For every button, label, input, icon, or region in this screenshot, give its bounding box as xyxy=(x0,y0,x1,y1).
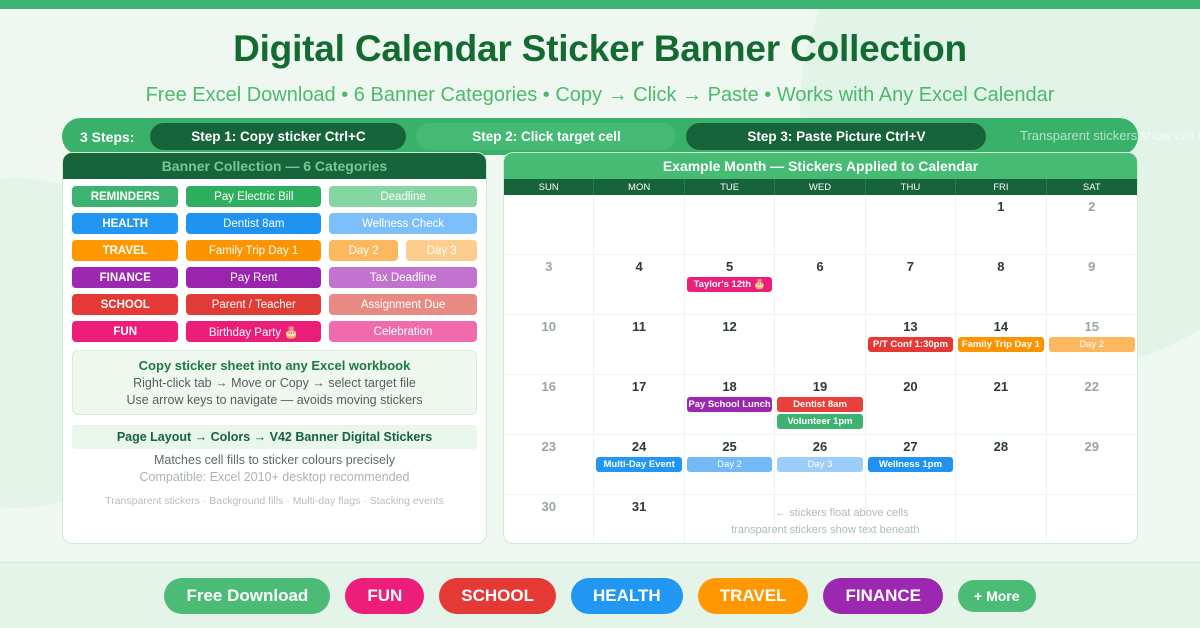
calendar-day-number: 3 xyxy=(504,259,593,274)
calendar-day-cell[interactable]: 30 xyxy=(504,495,594,544)
banner-row: REMINDERSPay Electric BillDeadline xyxy=(72,186,477,207)
calendar-day-number: 4 xyxy=(594,259,683,274)
calendar-day-cell[interactable]: 4 xyxy=(594,255,684,315)
calendar-sticker[interactable]: Dentist 8am xyxy=(777,397,862,412)
calendar-day-cell[interactable]: 23 xyxy=(504,435,594,495)
calendar-day-cell[interactable]: 9 xyxy=(1047,255,1137,315)
banner-collection-panel: Banner Collection — 6 Categories REMINDE… xyxy=(62,152,487,544)
banner-pale-chip[interactable]: Assignment Due xyxy=(329,294,477,315)
calendar-day-number: 26 xyxy=(775,439,864,454)
calendar-day-cell[interactable]: 19Dentist 8amVolunteer 1pm xyxy=(775,375,865,435)
calendar-sticker[interactable]: Volunteer 1pm xyxy=(777,414,862,429)
banner-pale-chip[interactable]: Celebration xyxy=(329,321,477,342)
theme-sub-line: Matches cell fills to sticker colours pr… xyxy=(63,453,486,467)
calendar-day-cell[interactable]: 15Day 2 xyxy=(1047,315,1137,375)
calendar-sticker[interactable]: Day 2 xyxy=(687,457,772,472)
theme-ribbon: Page Layout → Colors → V42 Banner Digita… xyxy=(72,425,477,449)
step-1-pill[interactable]: Step 1: Copy sticker Ctrl+C xyxy=(150,123,406,150)
calendar-event-stack: Day 3 xyxy=(777,457,862,472)
calendar-day-cell[interactable]: 12 xyxy=(685,315,775,375)
banner-row: SCHOOLParent / TeacherAssignment Due xyxy=(72,294,477,315)
calendar-day-number: 5 xyxy=(685,259,774,274)
banner-row: HEALTHDentist 8amWellness Check xyxy=(72,213,477,234)
calendar-day-cell[interactable]: 21 xyxy=(956,375,1046,435)
calendar-sticker[interactable]: Family Trip Day 1 xyxy=(958,337,1043,352)
calendar-week-row: 161718Pay School Lunch19Dentist 8amVolun… xyxy=(504,375,1137,435)
footer-button-health[interactable]: HEALTH xyxy=(571,578,683,614)
calendar-event-stack: P/T Conf 1:30pm xyxy=(868,337,953,352)
panels-container: Banner Collection — 6 Categories REMINDE… xyxy=(62,152,1138,544)
calendar-day-number: 30 xyxy=(504,499,593,514)
calendar-day-number: 15 xyxy=(1047,319,1137,334)
example-calendar-panel: Example Month — Stickers Applied to Cale… xyxy=(503,152,1138,544)
banner-example-chip[interactable]: Parent / Teacher xyxy=(186,294,321,315)
calendar-day-cell[interactable]: 6 xyxy=(775,255,865,315)
calendar-day-number: 13 xyxy=(866,319,955,334)
banner-example-chip[interactable]: Birthday Party 🎂 xyxy=(186,321,321,342)
calendar-event-stack: Family Trip Day 1 xyxy=(958,337,1043,352)
banner-example-chip[interactable]: Pay Rent xyxy=(186,267,321,288)
calendar-event-stack: Dentist 8amVolunteer 1pm xyxy=(777,397,862,429)
calendar-day-cell[interactable]: 22 xyxy=(1047,375,1137,435)
page-root: Digital Calendar Sticker Banner Collecti… xyxy=(0,0,1200,628)
calendar-dow-wed: WED xyxy=(775,179,865,195)
banner-category-chip[interactable]: TRAVEL xyxy=(72,240,178,261)
calendar-day-cell[interactable]: 1 xyxy=(956,195,1046,255)
calendar-day-number: 7 xyxy=(866,259,955,274)
calendar-body: 12345Taylor's 12th 🎂678910111213P/T Conf… xyxy=(504,195,1137,544)
calendar-dow-tue: TUE xyxy=(685,179,775,195)
calendar-day-cell[interactable]: 16 xyxy=(504,375,594,435)
calendar-day-cell[interactable] xyxy=(1047,495,1137,544)
footer-button-travel[interactable]: TRAVEL xyxy=(698,578,809,614)
calendar-day-cell[interactable] xyxy=(504,195,594,255)
calendar-event-stack: Taylor's 12th 🎂 xyxy=(687,277,772,292)
calendar-sticker[interactable]: Day 3 xyxy=(777,457,862,472)
calendar-day-cell[interactable] xyxy=(775,195,865,255)
steps-label: 3 Steps: xyxy=(80,129,134,145)
calendar-week-row: 3031← stickers float above cellstranspar… xyxy=(504,495,1137,544)
calendar-event-stack: Multi-Day Event xyxy=(596,457,681,472)
banner-category-chip[interactable]: FUN xyxy=(72,321,178,342)
calendar-day-cell[interactable]: 31 xyxy=(594,495,684,544)
calendar-day-cell[interactable] xyxy=(866,495,956,544)
banner-pale-chip[interactable]: Tax Deadline xyxy=(329,267,477,288)
calendar-day-number: 19 xyxy=(775,379,864,394)
steps-bar: 3 Steps: Step 1: Copy sticker Ctrl+C Ste… xyxy=(62,118,1138,155)
calendar-day-cell[interactable]: 26Day 3 xyxy=(775,435,865,495)
banner-category-chip[interactable]: REMINDERS xyxy=(72,186,178,207)
page-title: Digital Calendar Sticker Banner Collecti… xyxy=(0,28,1200,70)
step-3-pill[interactable]: Step 3: Paste Picture Ctrl+V xyxy=(686,123,986,150)
calendar-day-cell[interactable]: 17 xyxy=(594,375,684,435)
calendar-event-stack: Pay School Lunch xyxy=(687,397,772,412)
footer-button-school[interactable]: SCHOOL xyxy=(439,578,556,614)
calendar-event-stack: Wellness 1pm xyxy=(868,457,953,472)
calendar-sticker[interactable]: Multi-Day Event xyxy=(596,457,681,472)
calendar-day-cell[interactable]: 5Taylor's 12th 🎂 xyxy=(685,255,775,315)
banner-pale-chip-2[interactable]: Day 3 xyxy=(406,240,477,261)
calendar-day-number: 17 xyxy=(594,379,683,394)
copy-sheet-note-title: Copy sticker sheet into any Excel workbo… xyxy=(81,358,468,373)
footer-button-bar: Free DownloadFUNSCHOOLHEALTHTRAVELFINANC… xyxy=(0,562,1200,628)
footer-button-more[interactable]: + More xyxy=(958,580,1036,612)
calendar-day-cell[interactable]: 27Wellness 1pm xyxy=(866,435,956,495)
features-line: Transparent stickers · Background fills … xyxy=(63,495,486,507)
calendar-day-number: 23 xyxy=(504,439,593,454)
calendar-sticker[interactable]: Pay School Lunch xyxy=(687,397,772,412)
calendar-day-number: 18 xyxy=(685,379,774,394)
calendar-day-number: 20 xyxy=(866,379,955,394)
calendar-day-number: 12 xyxy=(685,319,774,334)
calendar-day-number: 28 xyxy=(956,439,1045,454)
calendar-event-stack: Day 2 xyxy=(687,457,772,472)
page-header: Digital Calendar Sticker Banner Collecti… xyxy=(0,0,1200,107)
banner-row: TRAVELFamily Trip Day 1Day 2Day 3 xyxy=(72,240,477,261)
footer-button-fun[interactable]: FUN xyxy=(345,578,424,614)
calendar-day-cell[interactable]: 13P/T Conf 1:30pm xyxy=(866,315,956,375)
banner-row: FUNBirthday Party 🎂Celebration xyxy=(72,321,477,342)
calendar-day-number: 29 xyxy=(1047,439,1137,454)
banner-category-chip[interactable]: HEALTH xyxy=(72,213,178,234)
calendar-dow-sun: SUN xyxy=(504,179,594,195)
calendar-week-row: 345Taylor's 12th 🎂6789 xyxy=(504,255,1137,315)
calendar-sticker[interactable]: P/T Conf 1:30pm xyxy=(868,337,953,352)
calendar-dow-fri: FRI xyxy=(956,179,1046,195)
calendar-day-number: 14 xyxy=(956,319,1045,334)
calendar-day-number: 21 xyxy=(956,379,1045,394)
banner-example-chip[interactable]: Family Trip Day 1 xyxy=(186,240,321,261)
banner-example-chip[interactable]: Pay Electric Bill xyxy=(186,186,321,207)
calendar-day-cell[interactable] xyxy=(685,495,775,544)
calendar-day-cell[interactable] xyxy=(866,195,956,255)
calendar-sticker[interactable]: Wellness 1pm xyxy=(868,457,953,472)
calendar-day-number: 8 xyxy=(956,259,1045,274)
calendar-day-number: 1 xyxy=(956,199,1045,214)
banner-category-chip[interactable]: SCHOOL xyxy=(72,294,178,315)
step-2-pill[interactable]: Step 2: Click target cell xyxy=(416,123,676,150)
calendar-day-cell[interactable] xyxy=(956,495,1046,544)
calendar-day-number: 31 xyxy=(594,499,683,514)
calendar-day-cell[interactable]: ← stickers float above cellstransparent … xyxy=(775,495,865,544)
copy-sheet-note-box: Copy sticker sheet into any Excel workbo… xyxy=(72,350,477,415)
footer-button-finance[interactable]: FINANCE xyxy=(823,578,943,614)
calendar-day-cell[interactable]: 20 xyxy=(866,375,956,435)
calendar-day-headers: SUNMONTUEWEDTHUFRISAT xyxy=(504,179,1137,195)
compatibility-line: Compatible: Excel 2010+ desktop recommen… xyxy=(63,470,486,484)
banner-rows: REMINDERSPay Electric BillDeadlineHEALTH… xyxy=(63,179,486,342)
copy-sheet-note-line-1: Right-click tab → Move or Copy → select … xyxy=(81,376,468,390)
banner-pale-chip[interactable]: Deadline xyxy=(329,186,477,207)
calendar-week-row: 12 xyxy=(504,195,1137,255)
calendar-day-number: 10 xyxy=(504,319,593,334)
calendar-day-number: 16 xyxy=(504,379,593,394)
calendar-day-cell[interactable]: 24Multi-Day Event xyxy=(594,435,684,495)
calendar-day-cell[interactable]: 7 xyxy=(866,255,956,315)
calendar-day-cell[interactable]: 8 xyxy=(956,255,1046,315)
calendar-day-number: 25 xyxy=(685,439,774,454)
footer-button-free-download[interactable]: Free Download xyxy=(164,578,330,614)
example-calendar-heading: Example Month — Stickers Applied to Cale… xyxy=(504,153,1137,179)
calendar-day-cell[interactable]: 11 xyxy=(594,315,684,375)
calendar-week-row: 2324Multi-Day Event25Day 226Day 327Welln… xyxy=(504,435,1137,495)
calendar-sticker[interactable]: Taylor's 12th 🎂 xyxy=(687,277,772,292)
calendar-day-number: 27 xyxy=(866,439,955,454)
calendar-week-row: 10111213P/T Conf 1:30pm14Family Trip Day… xyxy=(504,315,1137,375)
calendar-day-cell[interactable]: 2 xyxy=(1047,195,1137,255)
calendar-event-stack: Day 2 xyxy=(1049,337,1135,352)
calendar-dow-thu: THU xyxy=(866,179,956,195)
calendar-day-cell[interactable]: 29 xyxy=(1047,435,1137,495)
calendar-day-cell[interactable]: 28 xyxy=(956,435,1046,495)
calendar-dow-sat: SAT xyxy=(1047,179,1137,195)
calendar-footer-note-1: ← stickers float above cells xyxy=(775,507,864,519)
calendar-day-cell[interactable]: 14Family Trip Day 1 xyxy=(956,315,1046,375)
calendar-day-cell[interactable] xyxy=(594,195,684,255)
calendar-day-cell[interactable]: 10 xyxy=(504,315,594,375)
steps-bar-wrap: 3 Steps: Step 1: Copy sticker Ctrl+C Ste… xyxy=(62,118,1138,155)
calendar-day-number: 2 xyxy=(1047,199,1137,214)
calendar-day-number: 6 xyxy=(775,259,864,274)
calendar-day-number: 24 xyxy=(594,439,683,454)
calendar-day-cell[interactable] xyxy=(685,195,775,255)
calendar-day-cell[interactable]: 25Day 2 xyxy=(685,435,775,495)
calendar-day-cell[interactable]: 18Pay School Lunch xyxy=(685,375,775,435)
top-accent-bar xyxy=(0,0,1200,9)
calendar-day-number: 11 xyxy=(594,319,683,334)
calendar-day-number: 9 xyxy=(1047,259,1137,274)
calendar-sticker[interactable]: Day 2 xyxy=(1049,337,1135,352)
banner-row: FINANCEPay RentTax Deadline xyxy=(72,267,477,288)
banner-pale-chip[interactable]: Day 2 xyxy=(329,240,399,261)
banner-pale-chip[interactable]: Wellness Check xyxy=(329,213,477,234)
calendar-day-number: 22 xyxy=(1047,379,1137,394)
calendar-day-cell[interactable] xyxy=(775,315,865,375)
copy-sheet-note-line-2: Use arrow keys to navigate — avoids movi… xyxy=(81,393,468,407)
banner-category-chip[interactable]: FINANCE xyxy=(72,267,178,288)
calendar-day-cell[interactable]: 3 xyxy=(504,255,594,315)
steps-note: Transparent stickers show cell text bene… xyxy=(1020,128,1200,143)
banner-collection-heading: Banner Collection — 6 Categories xyxy=(63,153,486,179)
page-subtitle: Free Excel Download • 6 Banner Categorie… xyxy=(0,84,1200,107)
calendar-dow-mon: MON xyxy=(594,179,684,195)
banner-example-chip[interactable]: Dentist 8am xyxy=(186,213,321,234)
